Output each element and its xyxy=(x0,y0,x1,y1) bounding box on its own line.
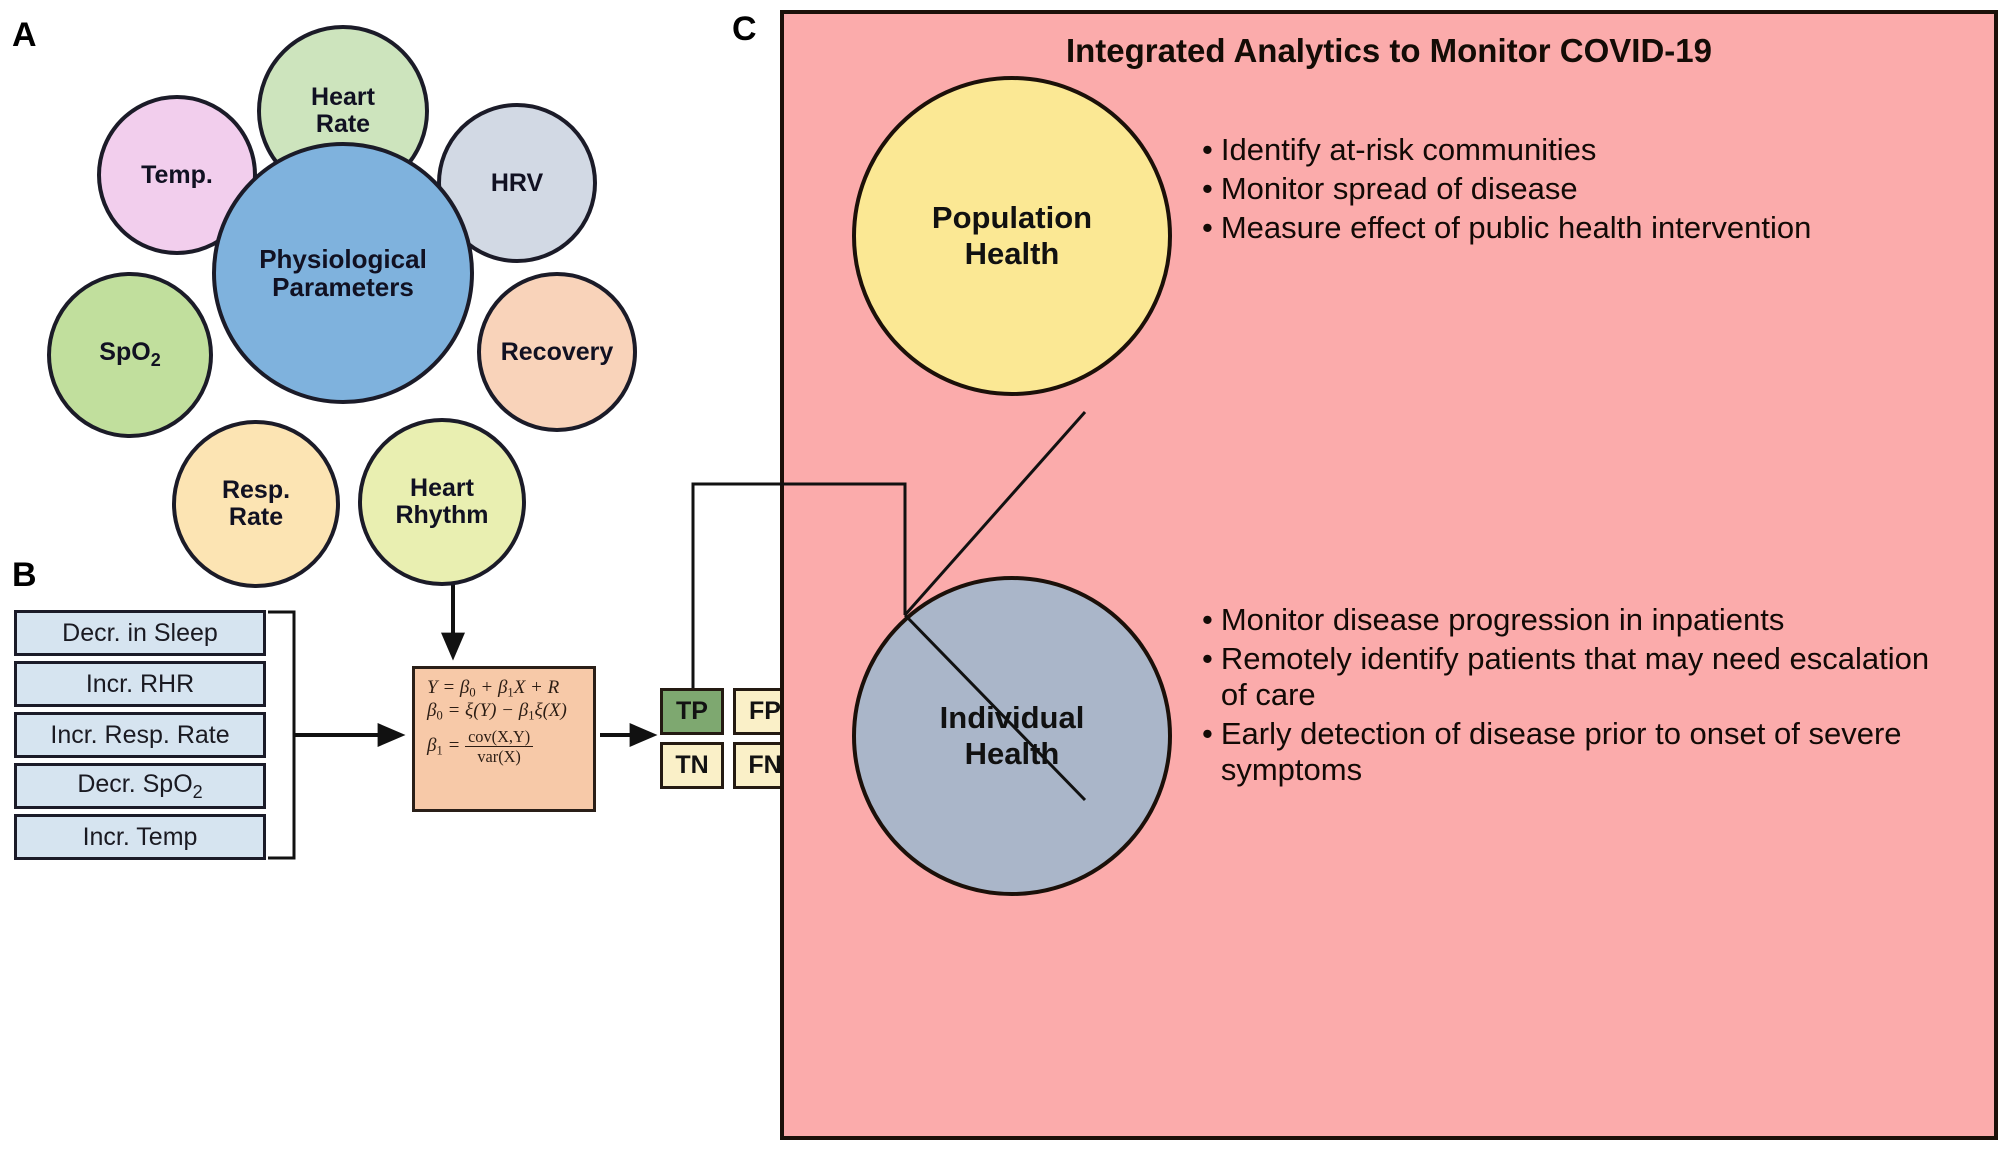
venn-label-spo2-sub: 2 xyxy=(151,350,161,370)
bullet-text: Measure effect of public health interven… xyxy=(1221,210,1942,246)
regression-equation-box: Y = β0 + β1X + R β0 = ξ(Y) − β1ξ(X) β1 =… xyxy=(412,666,596,812)
parameter-box-incr-resp-rate: Incr. Resp. Rate xyxy=(14,712,266,758)
individual-health-l1: Individual xyxy=(940,700,1085,735)
matrix-cell-true-negative: TN xyxy=(660,742,724,789)
circle-population-health-label: Population Health xyxy=(932,200,1092,271)
bullet-text: Remotely identify patients that may need… xyxy=(1221,641,1942,713)
equation-line-1: Y = β0 + β1X + R xyxy=(427,677,583,700)
population-health-l1: Population xyxy=(932,200,1092,235)
circle-individual-health: Individual Health xyxy=(852,576,1172,896)
circle-individual-health-label: Individual Health xyxy=(940,700,1085,771)
list-item: • Early detection of disease prior to on… xyxy=(1202,716,1942,788)
list-item: • Remotely identify patients that may ne… xyxy=(1202,641,1942,713)
venn-circle-resp-rate: Resp. Rate xyxy=(172,420,340,588)
panel-c-title: Integrated Analytics to Monitor COVID-19 xyxy=(784,32,1994,70)
bullet-dot-icon: • xyxy=(1202,171,1213,207)
bullet-dot-icon: • xyxy=(1202,641,1213,713)
venn-circle-physiological-parameters: Physiological Parameters xyxy=(212,142,474,404)
venn-label-hrv: HRV xyxy=(491,170,543,197)
panel-b-pipeline: Decr. in Sleep Incr. RHR Incr. Resp. Rat… xyxy=(0,590,880,890)
fraction-denominator: var(X) xyxy=(465,747,533,765)
venn-label-heart-rate-l1: Heart xyxy=(311,83,375,111)
bullet-text: Identify at-risk communities xyxy=(1221,132,1942,168)
individual-health-bullets: • Monitor disease progression in inpatie… xyxy=(1202,602,1942,791)
parameter-box-decr-sleep: Decr. in Sleep xyxy=(14,610,266,656)
venn-label-resp-rate-l1: Resp. xyxy=(222,476,290,504)
list-item: • Measure effect of public health interv… xyxy=(1202,210,1942,246)
venn-label-heart-rhythm-l2: Rhythm xyxy=(395,501,488,529)
venn-label-heart-rate-l2: Rate xyxy=(316,110,370,138)
bullet-text: Monitor spread of disease xyxy=(1221,171,1942,207)
bullet-dot-icon: • xyxy=(1202,132,1213,168)
matrix-cell-true-positive: TP xyxy=(660,688,724,735)
list-item: • Monitor disease progression in inpatie… xyxy=(1202,602,1942,638)
bullet-dot-icon: • xyxy=(1202,602,1213,638)
venn-label-heart-rate: Heart Rate xyxy=(311,84,375,138)
circle-population-health: Population Health xyxy=(852,76,1172,396)
parameter-box-decr-spo2: Decr. SpO2 xyxy=(14,763,266,809)
venn-circle-recovery: Recovery xyxy=(477,272,637,432)
list-item: • Identify at-risk communities xyxy=(1202,132,1942,168)
figure-root: A B C Temp. Heart Rate HRV Recovery Hear… xyxy=(0,0,2008,1151)
parameter-box-decr-spo2-label: Decr. SpO2 xyxy=(77,770,202,803)
panel-c-integrated-analytics: Integrated Analytics to Monitor COVID-19… xyxy=(780,10,1998,1140)
panel-a-venn: Temp. Heart Rate HRV Recovery Heart Rhyt… xyxy=(0,0,720,580)
bullet-dot-icon: • xyxy=(1202,716,1213,788)
population-health-bullets: • Identify at-risk communities • Monitor… xyxy=(1202,132,1942,249)
venn-label-resp-rate: Resp. Rate xyxy=(222,477,290,531)
equation-fraction: cov(X,Y)var(X) xyxy=(465,728,533,765)
venn-circle-heart-rhythm: Heart Rhythm xyxy=(358,418,526,586)
individual-health-l2: Health xyxy=(965,736,1060,771)
venn-label-heart-rhythm: Heart Rhythm xyxy=(395,475,488,529)
venn-label-center-l2: Parameters xyxy=(272,272,414,302)
list-item: • Monitor spread of disease xyxy=(1202,171,1942,207)
population-health-l2: Health xyxy=(965,236,1060,271)
venn-label-spo2: SpO2 xyxy=(99,339,160,370)
bullet-text: Monitor disease progression in inpatient… xyxy=(1221,602,1942,638)
parameter-box-incr-temp: Incr. Temp xyxy=(14,814,266,860)
fraction-numerator: cov(X,Y) xyxy=(465,728,533,747)
equation-line-2: β0 = ξ(Y) − β1ξ(X) xyxy=(427,700,583,723)
venn-circle-spo2: SpO2 xyxy=(47,272,213,438)
venn-label-spo2-main: SpO xyxy=(99,338,150,366)
venn-label-recovery: Recovery xyxy=(501,339,614,366)
venn-label-center-l1: Physiological xyxy=(259,244,427,274)
venn-label-resp-rate-l2: Rate xyxy=(229,503,283,531)
bullet-text: Early detection of disease prior to onse… xyxy=(1221,716,1942,788)
bullet-dot-icon: • xyxy=(1202,210,1213,246)
equation-line-3: β1 = cov(X,Y)var(X) xyxy=(427,728,583,765)
venn-label-heart-rhythm-l1: Heart xyxy=(410,474,474,502)
panel-letter-c: C xyxy=(732,10,757,49)
venn-label-temperature: Temp. xyxy=(141,162,213,189)
parameter-box-incr-rhr: Incr. RHR xyxy=(14,661,266,707)
venn-label-center: Physiological Parameters xyxy=(259,245,427,301)
